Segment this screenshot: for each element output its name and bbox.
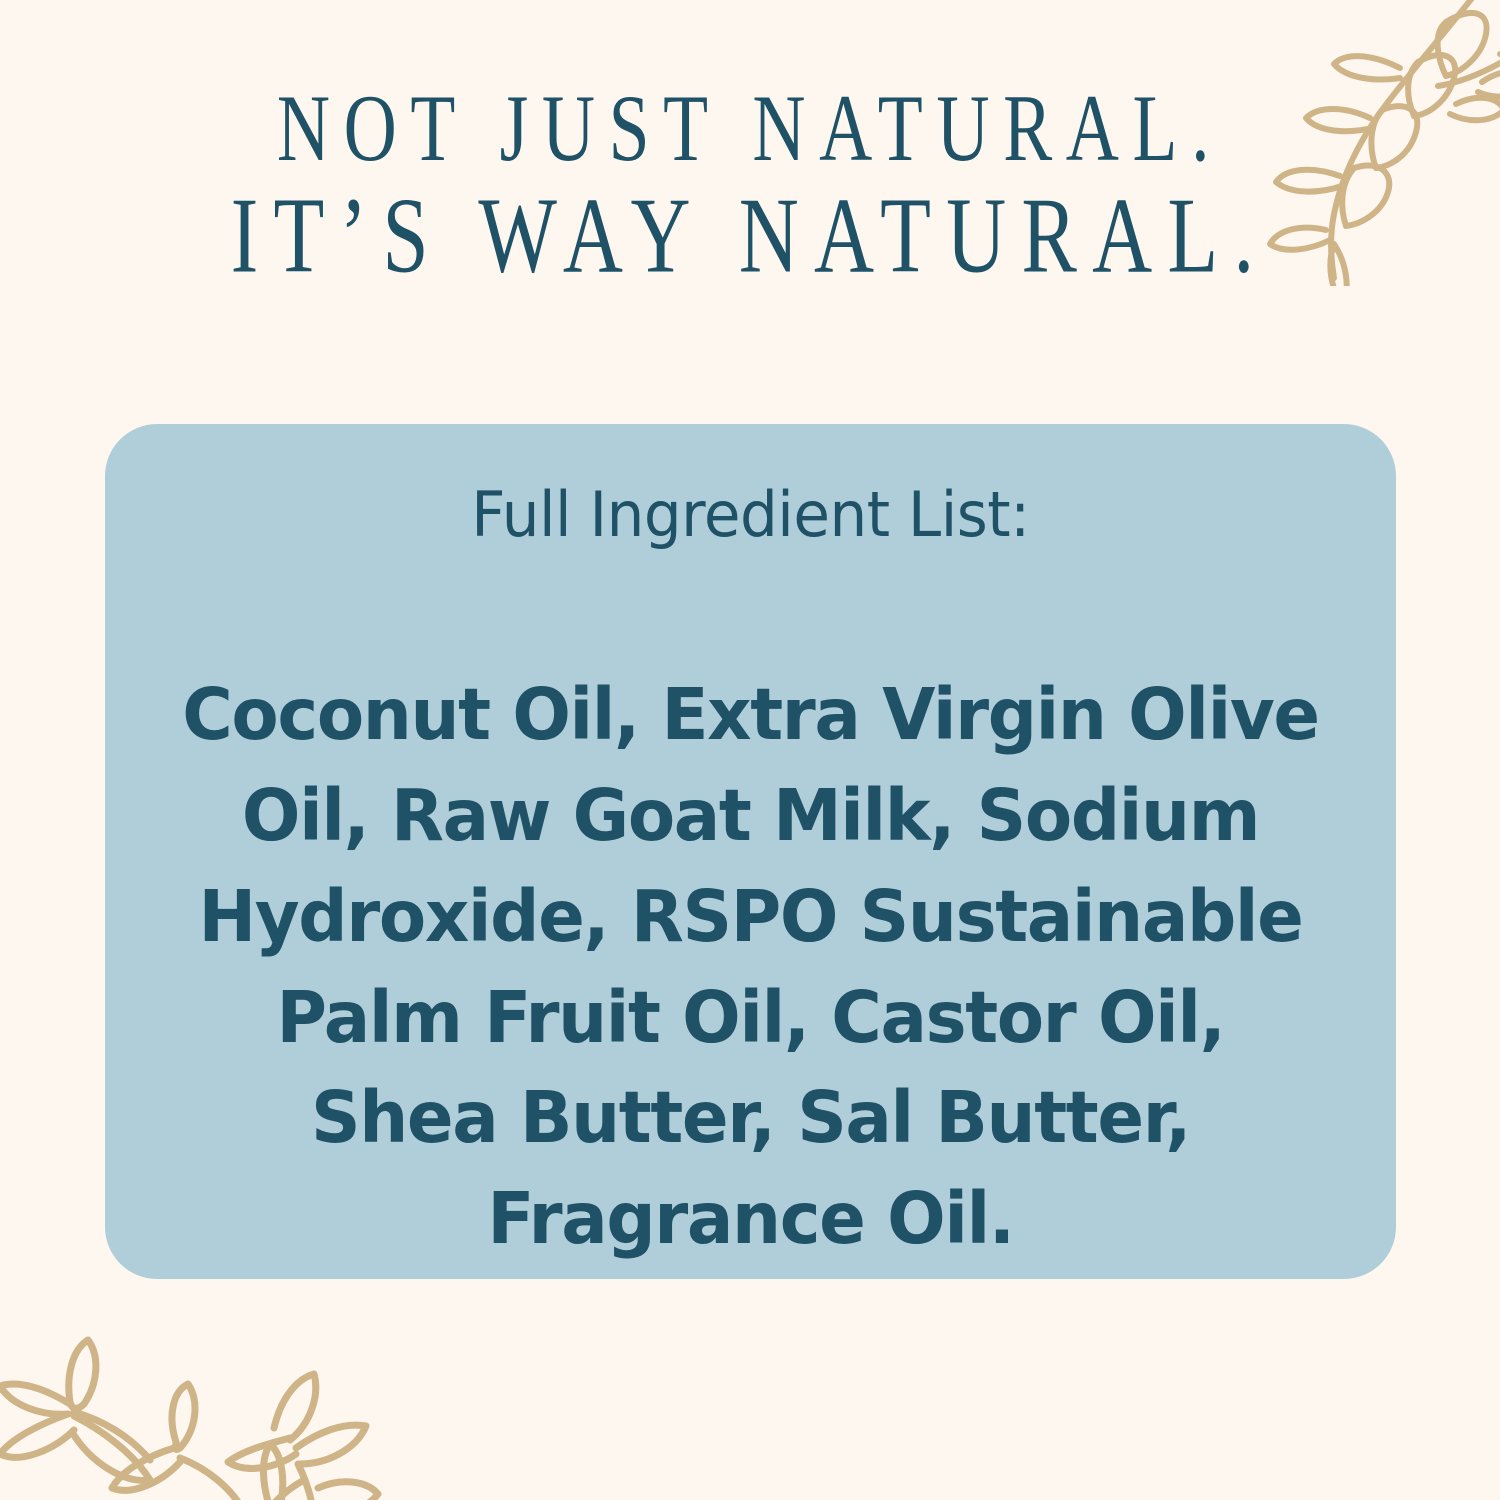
poster-canvas: NOT JUST NATURAL. IT’S WAY NATURAL. Full… <box>0 0 1500 1500</box>
botanical-sprigs-icon <box>0 1284 394 1500</box>
ingredient-list-text: Coconut Oil, Extra Virgin Olive Oil, Raw… <box>167 665 1334 1270</box>
headline: NOT JUST NATURAL. IT’S WAY NATURAL. <box>0 78 1500 292</box>
ingredient-list-title: Full Ingredient List: <box>173 482 1328 547</box>
headline-line-2: IT’S WAY NATURAL. <box>150 176 1350 297</box>
ingredient-panel: Full Ingredient List: Coconut Oil, Extra… <box>105 424 1396 1279</box>
headline-line-1: NOT JUST NATURAL. <box>150 78 1350 179</box>
